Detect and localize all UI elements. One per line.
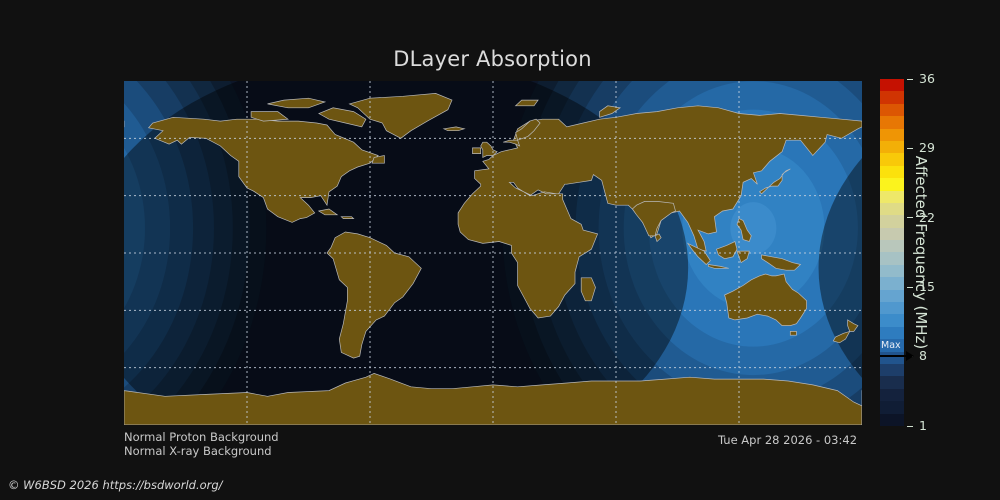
landmass-ireland <box>473 148 481 154</box>
colorbar-band <box>880 240 904 252</box>
colorbar-axis-label: Affected Frequency (MHz) <box>908 79 930 426</box>
colorbar-band <box>880 401 904 413</box>
colorbar-band <box>880 203 904 215</box>
colorbar[interactable]: 1815222936 <box>880 79 904 426</box>
colorbar-band <box>880 265 904 277</box>
colorbar-band <box>880 364 904 376</box>
colorbar-gradient <box>880 79 904 426</box>
colorbar-band <box>880 302 904 314</box>
colorbar-band <box>880 414 904 426</box>
colorbar-band <box>880 376 904 388</box>
absorption-contour-band <box>730 202 776 254</box>
timestamp: Tue Apr 28 2026 - 03:42 <box>718 433 857 447</box>
world-map[interactable] <box>124 81 862 425</box>
colorbar-band <box>880 389 904 401</box>
landmass-hispaniola <box>341 217 353 219</box>
colorbar-band <box>880 314 904 326</box>
colorbar-band <box>880 327 904 339</box>
colorbar-band <box>880 79 904 91</box>
colorbar-band <box>880 166 904 178</box>
colorbar-band <box>880 91 904 103</box>
colorbar-band <box>880 228 904 240</box>
colorbar-band <box>880 191 904 203</box>
colorbar-band <box>880 339 904 351</box>
colorbar-band <box>880 116 904 128</box>
colorbar-band <box>880 178 904 190</box>
colorbar-band <box>880 290 904 302</box>
colorbar-band <box>880 153 904 165</box>
colorbar-band <box>880 141 904 153</box>
colorbar-band <box>880 215 904 227</box>
colorbar-band <box>880 277 904 289</box>
proton-background-status: Normal Proton Background <box>124 430 279 444</box>
colorbar-band <box>880 252 904 264</box>
colorbar-band <box>880 104 904 116</box>
landmass-tasmania <box>790 331 796 335</box>
page-title: DLayer Absorption <box>0 47 985 71</box>
colorbar-band <box>880 352 904 364</box>
dlayer-absorption-map-app: DLayer Absorption <box>0 0 1000 500</box>
map-canvas <box>124 81 862 425</box>
copyright-notice: © W6BSD 2026 https://bsdworld.org/ <box>8 478 223 492</box>
xray-background-status: Normal X-ray Background <box>124 444 272 458</box>
colorbar-band <box>880 129 904 141</box>
